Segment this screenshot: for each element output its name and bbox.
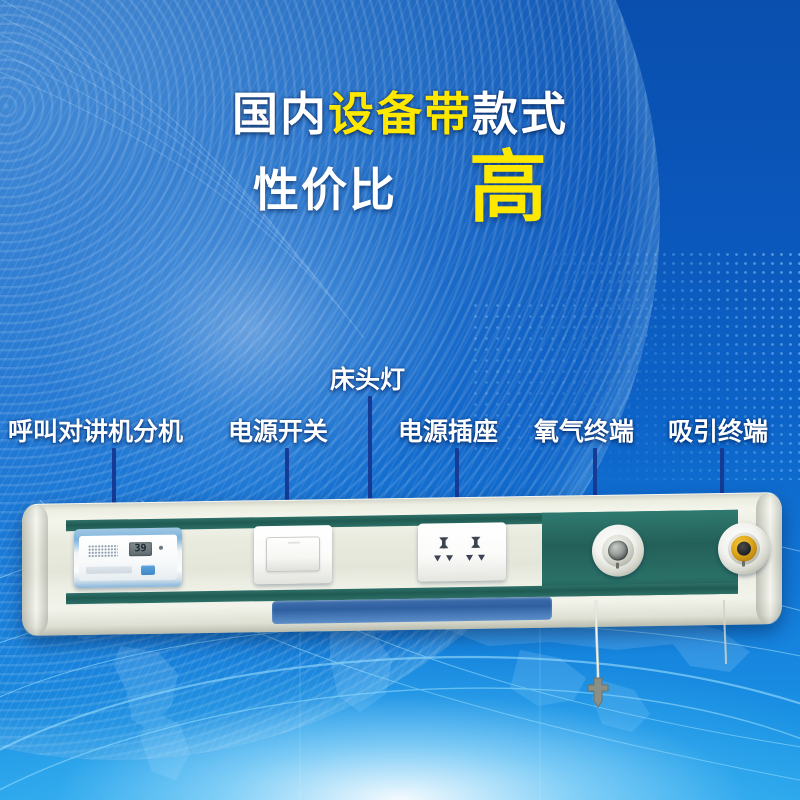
banner-canvas: 国内设备带款式 性价比 高 呼叫对讲机分机 电源开关 床头灯 电源插座 氧气终端…	[0, 0, 800, 800]
suspended-hose	[0, 0, 800, 800]
hose-connector-icon	[588, 678, 608, 707]
